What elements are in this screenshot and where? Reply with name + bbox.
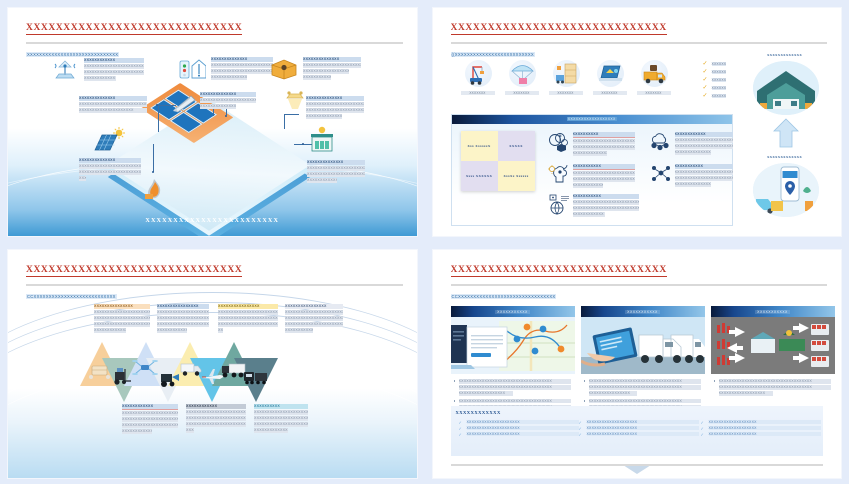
- feature-line: XXXXXXXXXXXXXXXXXXXXXXXX: [675, 170, 733, 175]
- globe-data-icon: [548, 194, 572, 216]
- down-arrow-icon: [623, 465, 651, 474]
- check-icon: ✓: [579, 420, 582, 425]
- block-heading: XXXXXXXXXXXX: [122, 404, 178, 410]
- top-block-1: XXXXXXXXXXXXXXX XXXXXXXXXXXXXXXXXXXXXXXX…: [94, 304, 150, 334]
- check-icon: ✓: [579, 432, 582, 437]
- bottom-block-2: XXXXXXXXXXXX XXXXXXXXXXXXXXXXXXXXXXXXXXX…: [186, 404, 246, 434]
- callout-heading: XXXXXXXXXXXXXX: [79, 158, 141, 163]
- bullet-line: XXXXXXXXXXXXXXXXXXXXXXXXXXXXXXXXXXXX: [719, 379, 831, 384]
- callout-line: XXX: [79, 176, 86, 181]
- block-line: XXXXXXXXXXXXXXXXXXXXXXXXXXX: [122, 423, 178, 428]
- block-line: XXXXXXXXXXXXXXXXXXXXXXXXX: [254, 416, 308, 421]
- block-line: XXXXXXXXXXXXXXXXXXXXXXXXX: [254, 422, 308, 427]
- feature-text-5: XXXXXXXXXXX XXXXXXXXXXXXXXXXXXXXXXXXXXXX…: [573, 194, 639, 218]
- feature-panel-bar: XXXXXXXXXXXXXXXXXX: [452, 115, 733, 124]
- check-icon: ✓: [459, 426, 462, 431]
- bullet-line: XXXXXXXXXXXXXXXX: [589, 391, 637, 396]
- bullet-line: XXXXXXXXXXXXXXXXXXXXXXXXXXXXXXXXXXXX: [459, 399, 571, 404]
- check-icon: ✓: [701, 420, 704, 425]
- block-line: XXXXXXXXXXXXXXXXXXXXXXXXXXXXX: [218, 316, 278, 321]
- slide1-header: XXXXXXXXXXXXXXXXXXXXXXXXXXXXX XXXXXXXXXX…: [26, 22, 403, 62]
- slide-top-left[interactable]: XXXXXXXXXXXXXXXXXXXXXXXXXXXXX XXXXXXXXXX…: [8, 8, 417, 236]
- spotlight-icon: [284, 90, 306, 112]
- feature-line: XXXXXXXXXXXX: [573, 212, 605, 217]
- block-line: XXXXXXXXXXXXX: [122, 429, 152, 434]
- isometric-building-diagram: [136, 66, 326, 176]
- flame-icon: [144, 178, 164, 200]
- checklist-item: XXXXXX: [712, 86, 727, 90]
- slide1-bottom-caption: XXXXXXXXXXXXXXXXXXXXXXXX: [8, 217, 417, 224]
- callout-line: XXXXXXXXXXXXXXXXXXXXXXXXXX: [84, 64, 144, 69]
- card-2[interactable]: XXXXXXXXXXX: [581, 306, 705, 417]
- block-line: XXXXXXXXXXXXXXXXXXXXXXXXXXXXX: [218, 310, 278, 315]
- callout-heading: XXXXXXXXXXXXXX: [211, 57, 273, 62]
- card-header-label: XXXXXXXXXXX: [625, 310, 660, 314]
- footer-item: XXXXXXXXXXXXXXXXXXX: [709, 426, 821, 430]
- block-heading: XXXXXXXXXXXX: [186, 404, 246, 409]
- top-block-2: XXXXXXXXXXXXXXXX XXXXXXXXXXXXXXXXXXXXXXX…: [157, 304, 209, 334]
- callout-line: XXXXXXXXXXXXXX: [306, 114, 342, 119]
- drone-icon: [132, 356, 158, 378]
- check-icon: ✓: [703, 61, 708, 67]
- bullet-line: XXXXXXXXXXXXXXXXXXXXXXXXXXXXXXXXXXXX: [589, 399, 701, 404]
- callout-text-store: XXXXXXXXXXXXXX XXXXXXXXXXXXXXXXXXXXXXXXX…: [307, 160, 365, 184]
- block-line: XXXXXXXXXXXXXXXXXXXXXXXXXXXX: [186, 422, 246, 427]
- check-icon: ✓: [703, 77, 708, 83]
- footer-item: XXXXXXXXXXXXXXXXXXXXX: [467, 420, 579, 424]
- card-header: XXXXXXXXXXX: [711, 306, 835, 317]
- block-heading: XXXXXXXXXXXXXXXX: [285, 304, 343, 309]
- callout-line: XXXXXXXXXXXXXXXXXXXXX: [79, 108, 147, 113]
- block-line: XXXXXXXXXXXXXXXXXXXXXXXXX: [254, 410, 308, 415]
- crane-icon[interactable]: [465, 60, 492, 87]
- feature-line: XXXXXXXXXXXXXXXXXXXXXXXXXXXXXX: [573, 206, 639, 211]
- card-header-label: XXXXXXXXXXX: [495, 310, 530, 314]
- callout-heading: XXXXXXXXXXXX: [84, 58, 144, 63]
- bottom-block-3: XXXXXXXXXX XXXXXXXXXXXXXXXXXXXXXXXXX XXX…: [254, 404, 308, 434]
- block-line: XXXXXXXXXXXXXXX: [254, 428, 288, 433]
- right-image-caption-2: XXXXXXXXXXXXX: [745, 155, 825, 159]
- block-line: XXXXXXXXXXXXXXXXXXXXXXXXXX: [94, 310, 150, 315]
- finance-coins-icon: [548, 132, 570, 152]
- delivery-truck-icon[interactable]: [641, 60, 668, 87]
- block-heading: XXXXXXXXXX: [254, 404, 308, 409]
- footer-column-1: ✓XXXXXXXXXXXXXXXXXXXXX ✓XXXXXXXXXXXXXXXX…: [459, 420, 579, 438]
- card-bullet: XXXXXXXXXXXXXXXXXXXXXXXXXXXXXXXXXXXX XXX…: [583, 379, 701, 396]
- callout-line: XXXXXXXXXXXXXXXXXXXXXXXXXX: [306, 102, 364, 107]
- page-title: XXXXXXXXXXXXXXXXXXXXXXXXXXXXX: [26, 265, 242, 277]
- warehouse-rack-icon[interactable]: [553, 60, 580, 87]
- check-icon: ✓: [703, 93, 708, 99]
- page-subtitle: CCXXXXXXXXXXXXXXXXXXXXXXXXXXXXXXXX: [451, 294, 557, 299]
- footer-item: XXXXXXXXXXXXXXXXXXX: [709, 432, 821, 436]
- quadrant-cell: Xxxx XXXXXX: [461, 161, 498, 191]
- page-title: XXXXXXXXXXXXXXXXXXXXXXXXXXXXX: [451, 265, 667, 277]
- callout-heading: XXXXXXXXXXXXXX: [306, 96, 364, 101]
- callout-heading: XXXXXXXXXXXXXX: [200, 92, 256, 97]
- card-1[interactable]: XXXXXXXXXXX: [451, 306, 575, 417]
- connector-line: [284, 114, 299, 115]
- cloud-gear-icon: [650, 132, 672, 152]
- bullet-line: XXXXXXXXXXXXXXXXXXXXXXXXXXXXXXXXXXXX: [719, 385, 831, 390]
- callout-text-scanner: XXXXXXXXXXXXXX XXXXXXXXXXXXXXXXXXXXXXXXX…: [79, 96, 147, 114]
- checklist-item: XXXXXX: [712, 78, 727, 82]
- icon-caption: XXXXXXX: [505, 91, 539, 95]
- feature-heading: XXXXXXXXXXXX: [675, 132, 733, 137]
- card-3[interactable]: XXXXXXXXXXX: [711, 306, 835, 397]
- page-subtitle: ((XXXXXXXXXXXXXXXXXXXXXXXXXX: [451, 52, 535, 57]
- icon-caption: XXXXXXX: [593, 91, 627, 95]
- block-line: XXXXXXXXXXX: [285, 328, 313, 333]
- quadrant-cell: XxxXx Xxxxxx: [498, 161, 535, 191]
- block-line: XXXXXXXXXXXXXXXXXXXXXXXXXXXX: [186, 416, 246, 421]
- up-arrow-icon: [773, 118, 799, 148]
- card-header: XXXXXXXXXXX: [451, 306, 575, 317]
- footer-item: XXXXXXXXXXXXXXXXXXXX: [587, 420, 699, 424]
- connector-line: [158, 105, 159, 132]
- footer-item: XXXXXXXXXXXXXXXXXXXXX: [467, 432, 579, 436]
- footer-item: XXXXXXXXXXXXXXXXXXXXX: [467, 426, 579, 430]
- laptop-delivery-icon[interactable]: [597, 60, 624, 87]
- block-line: XXXXXXXXXXXXX: [157, 328, 187, 333]
- callout-line: XXXXXXXXXXXXXXXXXXXXXXXXXX: [200, 98, 256, 103]
- callout-heading: XXXXXXXXXXXXXX: [79, 96, 147, 101]
- block-line: XXXXXXXXXXXXXXXXXXXXXXXXXXXXX: [218, 322, 278, 327]
- feature-line: XXXXXXXXXXXXXXXXXXXXXXXXXXXX: [573, 177, 635, 182]
- block-heading: XXXXXXXXXXXXXXXX: [218, 304, 278, 309]
- card-header-label: XXXXXXXXXXX: [755, 310, 790, 314]
- block-line: XXXX: [186, 428, 194, 433]
- parachute-drop-icon[interactable]: [509, 60, 536, 87]
- checklist-item: XXXXXX: [712, 94, 727, 98]
- page-title: XXXXXXXXXXXXXXXXXXXXXXXXXXXXX: [451, 23, 667, 35]
- block-line: XXXXXXXXXXXXXXXXXXXXXXXXXXX: [122, 417, 178, 422]
- footer-panel: XXXXXXXXXXXX ✓XXXXXXXXXXXXXXXXXXXXX ✓XXX…: [451, 406, 824, 456]
- page-subtitle: CCXXXXXXXXXXXXXXXXXXXXXXXXXXX: [26, 294, 117, 299]
- bullet-line: XXXXXXXXXXXXXXXXXXXXXXXXXXXXXXXXXXXX: [589, 379, 701, 384]
- train-icon: [242, 368, 270, 386]
- checklist-item: XXXXXX: [712, 70, 727, 74]
- check-icon: ✓: [703, 69, 708, 75]
- bullet-line: XXXXXXXXXXXXXXXXXX: [459, 391, 513, 396]
- slide4-header: XXXXXXXXXXXXXXXXXXXXXXXXXXXXX CCXXXXXXXX…: [451, 264, 828, 304]
- callout-line: XXXXXXXXXXXX: [307, 178, 337, 183]
- icon-caption: XXXXXXX: [461, 91, 495, 95]
- page-subtitle: XXXXXXXXXXXXXXXXXXXXXXXXXXXXXX: [26, 52, 119, 57]
- bullet-line: XXXXXXXXXXXXXXXXXXXXXXXXXXXXXXXXXXXX: [589, 385, 701, 390]
- quadrant-cell: Xxx XxxxxxX: [461, 131, 498, 161]
- block-line: XXXXXXXXXXXXXXXXXXXXXXXXXX: [94, 322, 150, 327]
- block-line: XXXXXXXXXXXXXXXXXXXXXXXXXXXXX: [285, 310, 343, 315]
- callout-line: XXXXXXXXXXXXXXXXXXXXXXXXX: [307, 166, 365, 171]
- feature-text-3: XXXXXXXXXXX XXXXXXXXXXXXXXXXXXXXXXXXXXXX…: [573, 164, 635, 189]
- block-heading: XXXXXXXXXXXXXXX: [94, 304, 150, 309]
- callout-line: XXXXXXXXXXXX: [84, 76, 116, 81]
- feature-line: XXXXXXXXXXXXXXXXXXXXXXXX: [675, 176, 733, 181]
- tablet-truck-fleet-icon: [581, 317, 705, 374]
- icon-caption: XXXXXXX: [637, 91, 671, 95]
- block-line: XXXXXXXXXXXXXXXXXXXXXXXXXXXXX: [285, 316, 343, 321]
- block-line: XX: [218, 328, 223, 333]
- icon-caption: XXXXXXX: [549, 91, 583, 95]
- callout-line: XXXXXXXXXXXXXXXXXXXXXXXXXX: [306, 108, 364, 113]
- feature-line: XXXXXXXXXXXXXXXXXXXXXXXXXXXXXX: [573, 200, 639, 205]
- slide-grid: XXXXXXXXXXXXXXXXXXXXXXXXXXXXX XXXXXXXXXX…: [0, 0, 849, 484]
- card-bullet: XXXXXXXXXXXXXXXXXXXXXXXXXXXXXXXXXXXX XXX…: [713, 379, 831, 396]
- footer-rule: [451, 464, 824, 466]
- ai-brain-icon: [548, 164, 570, 184]
- top-block-4: XXXXXXXXXXXXXXXX XXXXXXXXXXXXXXXXXXXXXXX…: [285, 304, 343, 334]
- callout-text-solar: XXXXXXXXXXXXXX XXXXXXXXXXXXXXXXXXXXXXXXX…: [79, 158, 141, 182]
- callout-line: XXXXXXXXXXXXXXXXXXXXXXXXXXXXXX: [79, 164, 141, 169]
- connector-line: [153, 144, 154, 172]
- check-icon: ✓: [459, 420, 462, 425]
- feature-line: XXXXXXXXXXXXXXX: [675, 182, 711, 187]
- footer-item: XXXXXXXXXXXXXXXXXXXX: [587, 426, 699, 430]
- connector-line: [284, 114, 285, 129]
- block-line: XXXXXXXXXXXXX: [94, 328, 126, 333]
- card-header: XXXXXXXXXXX: [581, 306, 705, 317]
- callout-heading: XXXXXXXXXXXXXX: [303, 57, 361, 62]
- quadrant-matrix: Xxx XxxxxxX XXXXX Xxxx XXXXXX XxxXx Xxxx…: [461, 131, 535, 191]
- check-icon: ✓: [701, 426, 704, 431]
- scanner-icon: [171, 93, 197, 113]
- block-line: XXXXXXXXXXXXXXXXXXXXXXXX: [157, 322, 209, 327]
- callout-line: XXXXXXXXXXXXXXXXXXXXXXXXX: [307, 172, 365, 177]
- block-heading: XXXXXXXXXXXXXXXX: [157, 304, 209, 309]
- feature-line: XXXXXXXXXXXXXXXXXXXXXXXX: [675, 144, 733, 149]
- bullet-line: XXXXXXXXXXXXXXXXXX: [719, 391, 773, 396]
- bullet-line: XXXXXXXXXXXXXXXXXXXXXXXXXXXXXXXXXXXX: [459, 379, 571, 384]
- footer-column-3: ✓XXXXXXXXXXXXXXXXXXX ✓XXXXXXXXXXXXXXXXXX…: [701, 420, 821, 438]
- title-rule: [451, 284, 828, 286]
- mobile-delivery-icon: [753, 163, 819, 217]
- callout-text-center: XXXXXXXXXXXXXX XXXXXXXXXXXXXXXXXXXXXXXXX…: [200, 92, 256, 110]
- route-map-screen-icon: [451, 317, 575, 374]
- title-rule: [26, 284, 403, 286]
- title-rule: [451, 42, 828, 44]
- distribution-network-icon: [711, 317, 835, 374]
- slide-top-right[interactable]: XXXXXXXXXXXXXXXXXXXXXXXXXXXXX ((XXXXXXXX…: [433, 8, 842, 236]
- checklist-item: XXXXXX: [712, 62, 727, 66]
- feature-text-4: XXXXXXXXXXX XXXXXXXXXXXXXXXXXXXXXXXX XXX…: [675, 164, 733, 188]
- block-line: XXXXXXXXXXXXXXXXXXXXXXXX: [157, 310, 209, 315]
- solar-panel-icon: [94, 126, 126, 154]
- block-line: XXXXXXXXXXXXXXXXXXXXXXXXXXXX: [186, 410, 246, 415]
- feature-line: XXXXXXXXXXXXX: [573, 183, 603, 188]
- warehouse-photo-icon: [753, 61, 819, 115]
- footer-title: XXXXXXXXXXXX: [456, 410, 501, 415]
- check-icon: ✓: [703, 85, 708, 91]
- bullet-line: XXXXXXXXXXXXXXXXXXXXXXXXXXXXXXXXXXXX: [459, 385, 571, 390]
- block-line: XXXXXXXXXXXXXXXXXXXXXXXX: [157, 316, 209, 321]
- callout-text-1: XXXXXXXXXXXX XXXXXXXXXXXXXXXXXXXXXXXXXX …: [84, 58, 144, 82]
- feature-line: XXXXXXXXXXXXXXXXXXXXXXXXXXXX: [573, 171, 635, 176]
- callout-line: XXXXXXXXXXXXXXXXXXXXXXXXXX: [84, 70, 144, 75]
- store-icon: [308, 126, 336, 154]
- callout-heading: XXXXXXXXXXXXXX: [307, 160, 365, 165]
- check-icon: ✓: [701, 432, 704, 437]
- feature-text-2: XXXXXXXXXXXX XXXXXXXXXXXXXXXXXXXXXXXX XX…: [675, 132, 733, 156]
- callout-line: XXXXXXXXXXXXXXXXXXXXXXXXXXXXXX: [79, 170, 141, 175]
- feature-line: XXXXXXXXXXXXXXXX: [573, 151, 607, 156]
- feature-panel-bar-label: XXXXXXXXXXXXXXXXXX: [567, 117, 617, 121]
- title-rule: [26, 42, 403, 44]
- cargo-box-icon: [88, 362, 114, 380]
- footer-item: XXXXXXXXXXXXXXXXXXX: [709, 420, 821, 424]
- feature-line: XXXXXXXXXXXXXXXXXXXXXXXXXXXX: [573, 145, 635, 150]
- feature-line: XXXXXXXXXXXXXXXXXXXXXXXX: [675, 138, 733, 143]
- block-line: XXXXXXXXXXXXXXXXXXXXXXXXXX: [94, 316, 150, 321]
- feature-line: XXXXXXXXXXXXXXX: [675, 150, 711, 155]
- slide-bottom-right[interactable]: XXXXXXXXXXXXXXXXXXXXXXXXXXXXX CCXXXXXXXX…: [433, 250, 842, 478]
- quadrant-cell: XXXXX: [498, 131, 535, 161]
- feature-line: XXXXXXXXXXXXXXXXXXXXXXXXXXXX: [573, 139, 635, 144]
- feature-panel: XXXXXXXXXXXXXXXXXX Xxx XxxxxxX XXXXX Xxx…: [451, 114, 734, 226]
- top-block-3: XXXXXXXXXXXXXXXX XXXXXXXXXXXXXXXXXXXXXXX…: [218, 304, 278, 334]
- satellite-dish-icon: [52, 58, 78, 82]
- feature-heading: XXXXXXXXXXX: [675, 164, 733, 169]
- block-line: XXXXXXXXXXXXXXXXXXXXXXXXXXX: [122, 411, 178, 416]
- feature-heading: XXXXXXXXXXX: [573, 164, 635, 170]
- page-title: XXXXXXXXXXXXXXXXXXXXXXXXXXXXX: [26, 23, 242, 35]
- bottom-block-1: XXXXXXXXXXXX XXXXXXXXXXXXXXXXXXXXXXXXXXX…: [122, 404, 178, 435]
- feature-text-1: XXXXXXXXXX XXXXXXXXXXXXXXXXXXXXXXXXXXXX …: [573, 132, 635, 157]
- callout-line: XXXXXXXXXXXXXXXXXXXXXXXXXX: [79, 102, 147, 107]
- callout-text-spotlight: XXXXXXXXXXXXXX XXXXXXXXXXXXXXXXXXXXXXXXX…: [306, 96, 364, 120]
- block-line: XXXXXXXXXXXXXXXXXXXXXXXXXXXXX: [285, 322, 343, 327]
- right-image-caption-1: XXXXXXXXXXXXX: [745, 53, 825, 57]
- callout-line: XXXXXXXXXXXXXXXXXXXXXXXXXX: [200, 104, 236, 109]
- card-bullet: XXXXXXXXXXXXXXXXXXXXXXXXXXXXXXXXXXXX XXX…: [453, 379, 571, 396]
- feature-heading: XXXXXXXXXXX: [573, 194, 639, 199]
- feature-heading: XXXXXXXXXX: [573, 132, 635, 138]
- footer-column-2: ✓XXXXXXXXXXXXXXXXXXXX ✓XXXXXXXXXXXXXXXXX…: [579, 420, 699, 438]
- check-icon: ✓: [579, 426, 582, 431]
- network-nodes-icon: [650, 164, 672, 184]
- check-icon: ✓: [459, 432, 462, 437]
- footer-item: XXXXXXXXXXXXXXXXXXXX: [587, 432, 699, 436]
- slide3-header: XXXXXXXXXXXXXXXXXXXXXXXXXXXXX CCXXXXXXXX…: [26, 264, 403, 304]
- slide-bottom-left[interactable]: XXXXXXXXXXXXXXXXXXXXXXXXXXXXX CCXXXXXXXX…: [8, 250, 417, 478]
